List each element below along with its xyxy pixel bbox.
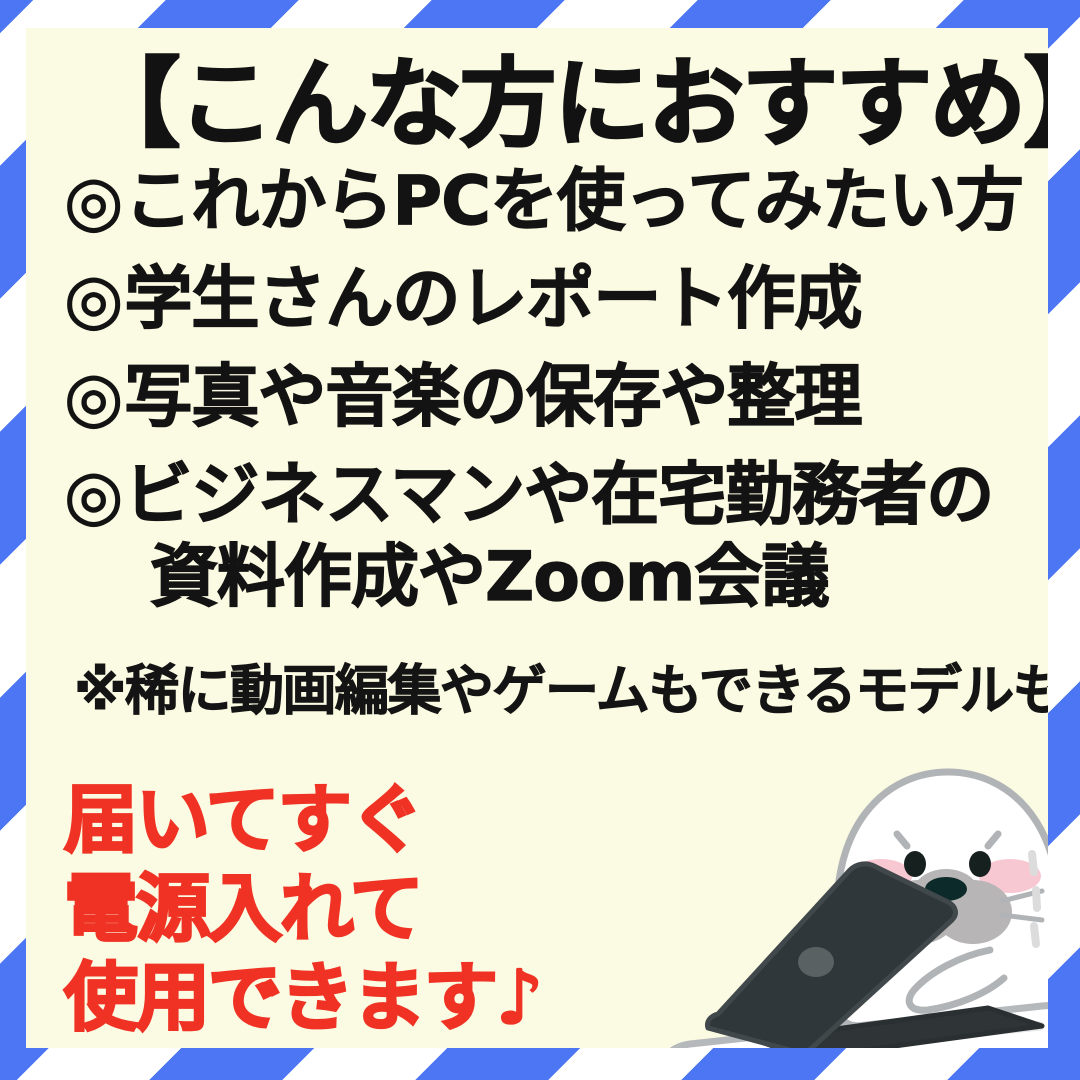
- footnote-text: ※稀に動画編集やゲームもできるモデルも…: [74, 664, 1048, 718]
- page-title: 【こんな方におすすめ】: [84, 54, 1014, 155]
- callout-line-3: 使用できます♪: [64, 954, 541, 1043]
- laptop-logo: [798, 947, 834, 977]
- list-item-label: 学生さんのレポート作成: [124, 266, 861, 334]
- callout-line-1: 届いてすぐ: [64, 776, 541, 865]
- callout-block: 届いてすぐ 電源入れて 使用できます♪: [64, 776, 541, 1042]
- list-item: ◎ ビジネスマンや在宅勤務者の: [64, 462, 1024, 530]
- list-item-label: 写真や音楽の保存や整理: [124, 364, 861, 432]
- bullet-icon: ◎: [64, 462, 122, 530]
- bullet-icon: ◎: [64, 266, 122, 334]
- list-item-label: 資料作成やZoom会議: [150, 544, 829, 612]
- list-item-continuation: 資料作成やZoom会議: [64, 544, 1024, 612]
- list-item: ◎ 学生さんのレポート作成: [64, 266, 1024, 334]
- list-item-label: これからPCを使ってみたい方: [124, 168, 1022, 236]
- callout-line-2: 電源入れて: [64, 865, 541, 954]
- content-panel: 【こんな方におすすめ】 ◎ これからPCを使ってみたい方 ◎ 学生さんのレポート…: [26, 28, 1048, 1048]
- seal-eye-right: [969, 851, 991, 877]
- seal-illustration: [638, 750, 1048, 1048]
- seal-eye-left: [904, 851, 926, 877]
- bullet-icon: ◎: [64, 364, 122, 432]
- bullet-icon: ◎: [64, 168, 122, 236]
- promo-card: 【こんな方におすすめ】 ◎ これからPCを使ってみたい方 ◎ 学生さんのレポート…: [0, 0, 1080, 1080]
- list-item: ◎ これからPCを使ってみたい方: [64, 168, 1024, 236]
- recommendation-list: ◎ これからPCを使ってみたい方 ◎ 学生さんのレポート作成 ◎ 写真や音楽の保…: [64, 168, 1024, 612]
- list-item: ◎ 写真や音楽の保存や整理: [64, 364, 1024, 432]
- list-item-label: ビジネスマンや在宅勤務者の: [124, 462, 993, 530]
- seal-body-spots: [1032, 854, 1037, 944]
